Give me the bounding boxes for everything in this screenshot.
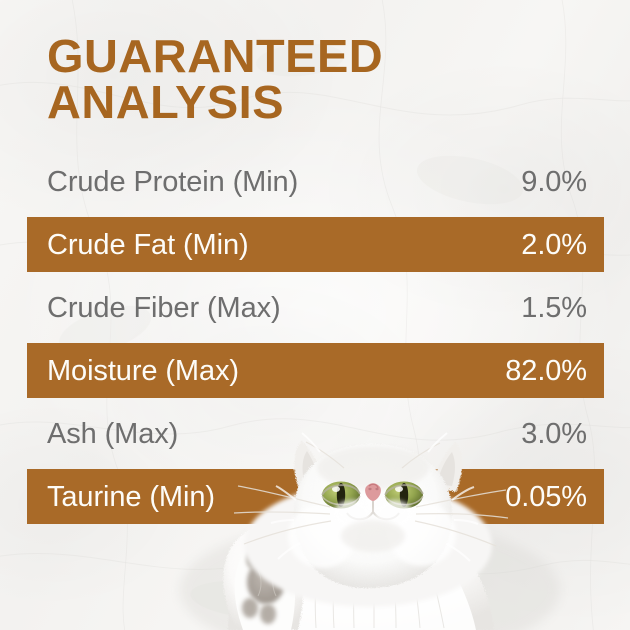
table-row: Ash (Max) 3.0% (0, 402, 630, 465)
nutrient-value: 82.0% (505, 354, 587, 388)
nutrient-label: Crude Fat (Min) (47, 228, 521, 262)
row-cells: Crude Fiber (Max) 1.5% (0, 291, 630, 325)
table-row: Crude Protein (Min) 9.0% (0, 150, 630, 213)
table-row: Crude Fat (Min) 2.0% (0, 213, 630, 276)
nutrient-label: Taurine (Min) (47, 480, 505, 514)
nutrient-value: 3.0% (521, 417, 587, 451)
nutrient-label: Crude Fiber (Max) (47, 291, 521, 325)
nutrient-label: Crude Protein (Min) (47, 165, 521, 199)
table-row: Moisture (Max) 82.0% (0, 339, 630, 402)
table-row: Taurine (Min) 0.05% (0, 465, 630, 528)
page-title: GUARANTEED ANALYSIS (47, 33, 577, 125)
row-cells: Taurine (Min) 0.05% (0, 480, 630, 514)
row-cells: Crude Fat (Min) 2.0% (0, 228, 630, 262)
nutrient-label: Ash (Max) (47, 417, 521, 451)
nutrient-value: 0.05% (505, 480, 587, 514)
row-cells: Ash (Max) 3.0% (0, 417, 630, 451)
guaranteed-analysis-table: Crude Protein (Min) 9.0% Crude Fat (Min)… (0, 150, 630, 528)
nutrient-label: Moisture (Max) (47, 354, 505, 388)
nutrient-value: 2.0% (521, 228, 587, 262)
nutrient-value: 9.0% (521, 165, 587, 199)
table-row: Crude Fiber (Max) 1.5% (0, 276, 630, 339)
row-cells: Crude Protein (Min) 9.0% (0, 165, 630, 199)
guaranteed-analysis-panel: GUARANTEED ANALYSIS Crude Protein (Min) … (0, 0, 630, 630)
row-cells: Moisture (Max) 82.0% (0, 354, 630, 388)
nutrient-value: 1.5% (521, 291, 587, 325)
